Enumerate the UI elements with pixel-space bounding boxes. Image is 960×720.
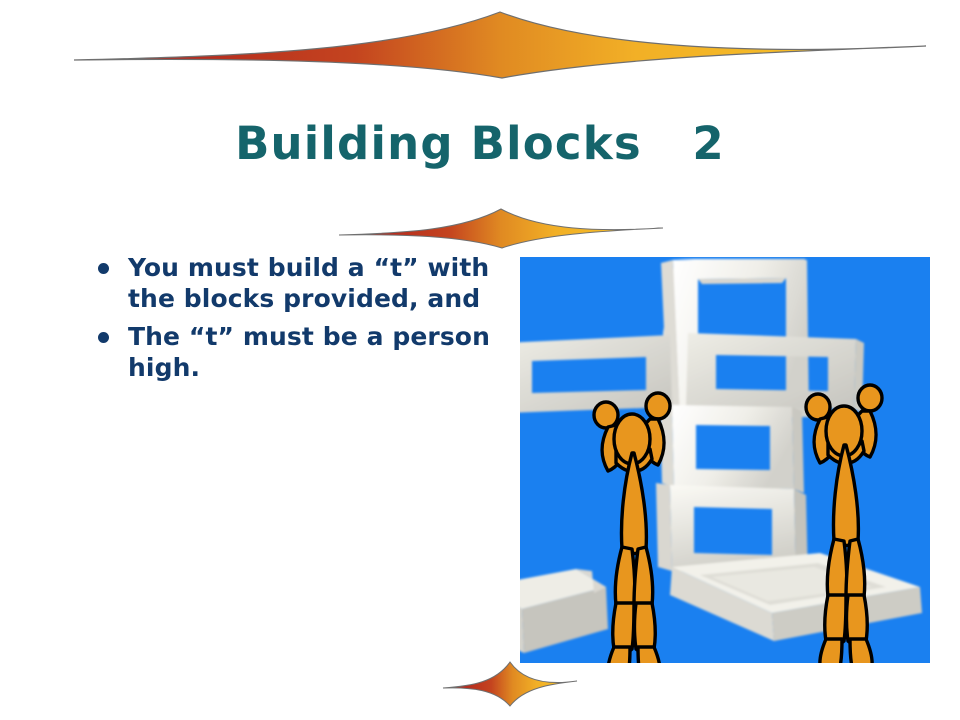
photo-canvas [520, 257, 930, 663]
slide: Building Blocks 2 You must build a “t” w… [0, 0, 960, 720]
bullet-list: You must build a “t” with the blocks pro… [98, 252, 498, 390]
foam-block-t-structure-photo [520, 257, 930, 663]
top-divider-ornament [70, 8, 930, 80]
bullet-text: You must build a “t” with the blocks pro… [128, 252, 498, 314]
bullet-dot-icon [98, 263, 109, 274]
page-title: Building Blocks 2 [0, 119, 960, 169]
bullet-text: The “t” must be a person high. [128, 321, 498, 383]
bullet-dot-icon [98, 332, 109, 343]
list-item: The “t” must be a person high. [98, 321, 498, 383]
middle-divider-ornament [336, 206, 666, 250]
bottom-divider-ornament [440, 660, 580, 720]
list-item: You must build a “t” with the blocks pro… [98, 252, 498, 314]
